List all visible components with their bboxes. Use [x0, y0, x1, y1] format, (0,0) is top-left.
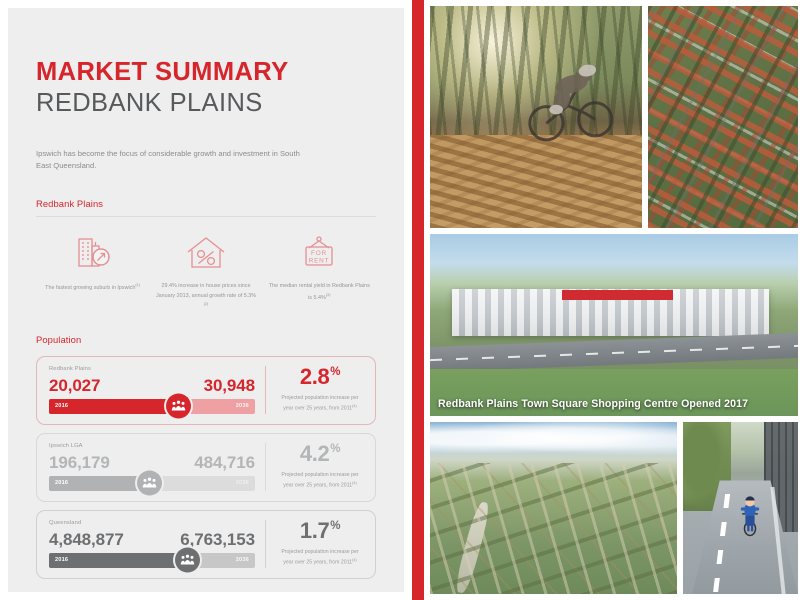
photo-row-top: [430, 6, 798, 228]
bar-fill: [49, 399, 179, 414]
growth-caption-text: Projected population increase per year o…: [281, 472, 358, 488]
red-accent-strip: [412, 0, 424, 600]
bar-year-end: 2036: [236, 403, 249, 409]
house-percent-icon: [184, 231, 228, 273]
stat-caption-text: The fastest growing suburb in Ipswich: [45, 285, 135, 291]
svg-text:FOR: FOR: [311, 250, 327, 257]
stat-caption: The fastest growing suburb in Ipswich(1): [45, 282, 140, 293]
shopping-centre-red-accent: [562, 290, 672, 299]
population-values: 4,848,877 6,763,153: [49, 530, 255, 550]
section-heading-population: Population: [36, 334, 376, 347]
percent-symbol: %: [330, 367, 340, 379]
growth-caption: Projected population increase per year o…: [277, 394, 363, 413]
growth-caption: Projected population increase per year o…: [277, 548, 363, 567]
svg-text:RENT: RENT: [309, 258, 330, 265]
cyclist-silhouette: [523, 46, 621, 161]
population-card-queensland: Queensland 4,848,877 6,763,153 2016 2036: [36, 510, 376, 579]
population-value-start: 4,848,877: [49, 530, 124, 550]
stat-caption: The median rental yield in Redbank Plain…: [267, 282, 371, 302]
growth-value: 4.2: [300, 443, 329, 465]
town-square-photo: Redbank Plains Town Square Shopping Cent…: [430, 234, 798, 416]
population-bar-block: Ipswich LGA 196,179 484,716 2016 2036: [49, 443, 265, 491]
road: [430, 332, 798, 372]
stat-footnote: (1): [135, 282, 140, 287]
people-marker-icon: [137, 471, 162, 496]
region-label: Queensland: [49, 520, 255, 526]
bar-year-end: 2036: [236, 557, 249, 563]
growth-value: 2.8: [300, 366, 329, 388]
stat-footnote: (2): [204, 301, 209, 306]
growth-percent: 2.8%: [300, 366, 340, 388]
left-panel-inner: MARKET SUMMARY REDBANK PLAINS Ipswich ha…: [8, 8, 404, 592]
growth-percent: 1.7%: [300, 520, 340, 542]
left-content-panel: MARKET SUMMARY REDBANK PLAINS Ipswich ha…: [0, 0, 412, 600]
infographic-page: MARKET SUMMARY REDBANK PLAINS Ipswich ha…: [0, 0, 800, 600]
population-progress-bar: 2016 2036: [49, 399, 255, 414]
population-value-start: 20,027: [49, 376, 100, 396]
population-bar-block: Queensland 4,848,877 6,763,153 2016 2036: [49, 520, 265, 568]
percent-symbol: %: [330, 444, 340, 456]
population-value-end: 30,948: [204, 376, 255, 396]
growth-caption-text: Projected population increase per year o…: [281, 549, 358, 565]
population-cards: Redbank Plains 20,027 30,948 2016 2036: [36, 356, 376, 579]
intro-paragraph: Ipswich has become the focus of consider…: [36, 148, 301, 173]
page-title-primary: MARKET SUMMARY: [36, 58, 376, 87]
photo-row-bottom: [430, 422, 798, 594]
growth-caption: Projected population increase per year o…: [277, 471, 363, 490]
population-values: 196,179 484,716: [49, 453, 255, 473]
population-values: 20,027 30,948: [49, 376, 255, 396]
population-card-redbank-plains: Redbank Plains 20,027 30,948 2016 2036: [36, 356, 376, 425]
growth-footnote: (4): [352, 481, 357, 485]
percent-symbol: %: [330, 521, 340, 533]
highway: [453, 501, 492, 594]
building-growth-icon: [73, 231, 113, 273]
landscape-scene: [430, 422, 677, 594]
child-cycling-photo: [683, 422, 798, 594]
aerial-suburb-photo: [648, 6, 798, 228]
population-value-end: 484,716: [194, 453, 255, 473]
people-marker-icon: [175, 548, 200, 573]
people-marker-icon: [166, 394, 191, 419]
stat-fastest-growing: The fastest growing suburb in Ipswich(1): [36, 231, 149, 312]
growth-footnote: (4): [352, 404, 357, 408]
bar-year-start: 2016: [55, 403, 68, 409]
population-value-end: 6,763,153: [180, 530, 255, 550]
stat-caption: 29.4% increase in house prices since Jan…: [154, 282, 258, 312]
region-label: Redbank Plains: [49, 366, 255, 372]
growth-percent: 4.2%: [300, 443, 340, 465]
right-photo-panel: Redbank Plains Town Square Shopping Cent…: [412, 0, 800, 600]
stat-rental-yield: FOR RENT The median rental yield in Redb…: [263, 231, 376, 312]
child-cyclist-figure: [727, 446, 773, 584]
photo-caption: Redbank Plains Town Square Shopping Cent…: [438, 398, 748, 410]
region-label: Ipswich LGA: [49, 443, 255, 449]
for-rent-sign-icon: FOR RENT: [298, 231, 340, 273]
stat-house-prices: 29.4% increase in house prices since Jan…: [149, 231, 262, 312]
bar-year-start: 2016: [55, 480, 68, 486]
bar-fill: [49, 553, 187, 568]
photo-grid: Redbank Plains Town Square Shopping Cent…: [424, 0, 800, 600]
growth-block: 2.8% Projected population increase per y…: [265, 366, 363, 414]
population-card-ipswich-lga: Ipswich LGA 196,179 484,716 2016 2036: [36, 433, 376, 502]
stat-caption-text: 29.4% increase in house prices since Jan…: [156, 283, 256, 298]
growth-caption-text: Projected population increase per year o…: [281, 395, 358, 411]
section-heading-suburb: Redbank Plains: [36, 198, 376, 217]
growth-value: 1.7: [300, 520, 329, 542]
population-progress-bar: 2016 2036: [49, 553, 255, 568]
shopping-centre-scene: [430, 234, 798, 416]
aerial-landscape-photo: [430, 422, 677, 594]
bar-year-start: 2016: [55, 557, 68, 563]
photo-row-middle: Redbank Plains Town Square Shopping Cent…: [430, 234, 798, 416]
growth-footnote: (4): [352, 558, 357, 562]
key-stats-row: The fastest growing suburb in Ipswich(1): [36, 231, 376, 312]
bar-year-end: 2036: [236, 480, 249, 486]
growth-block: 1.7% Projected population increase per y…: [265, 520, 363, 568]
page-title-secondary: REDBANK PLAINS: [36, 88, 376, 118]
population-value-start: 196,179: [49, 453, 110, 473]
population-progress-bar: 2016 2036: [49, 476, 255, 491]
population-bar-block: Redbank Plains 20,027 30,948 2016 2036: [49, 366, 265, 414]
suburb-rooftops-scene: [648, 6, 798, 228]
stat-footnote: (3): [326, 292, 331, 297]
stat-caption-text: The median rental yield in Redbank Plain…: [269, 283, 370, 300]
growth-block: 4.2% Projected population increase per y…: [265, 443, 363, 491]
mountain-biker-photo: [430, 6, 642, 228]
